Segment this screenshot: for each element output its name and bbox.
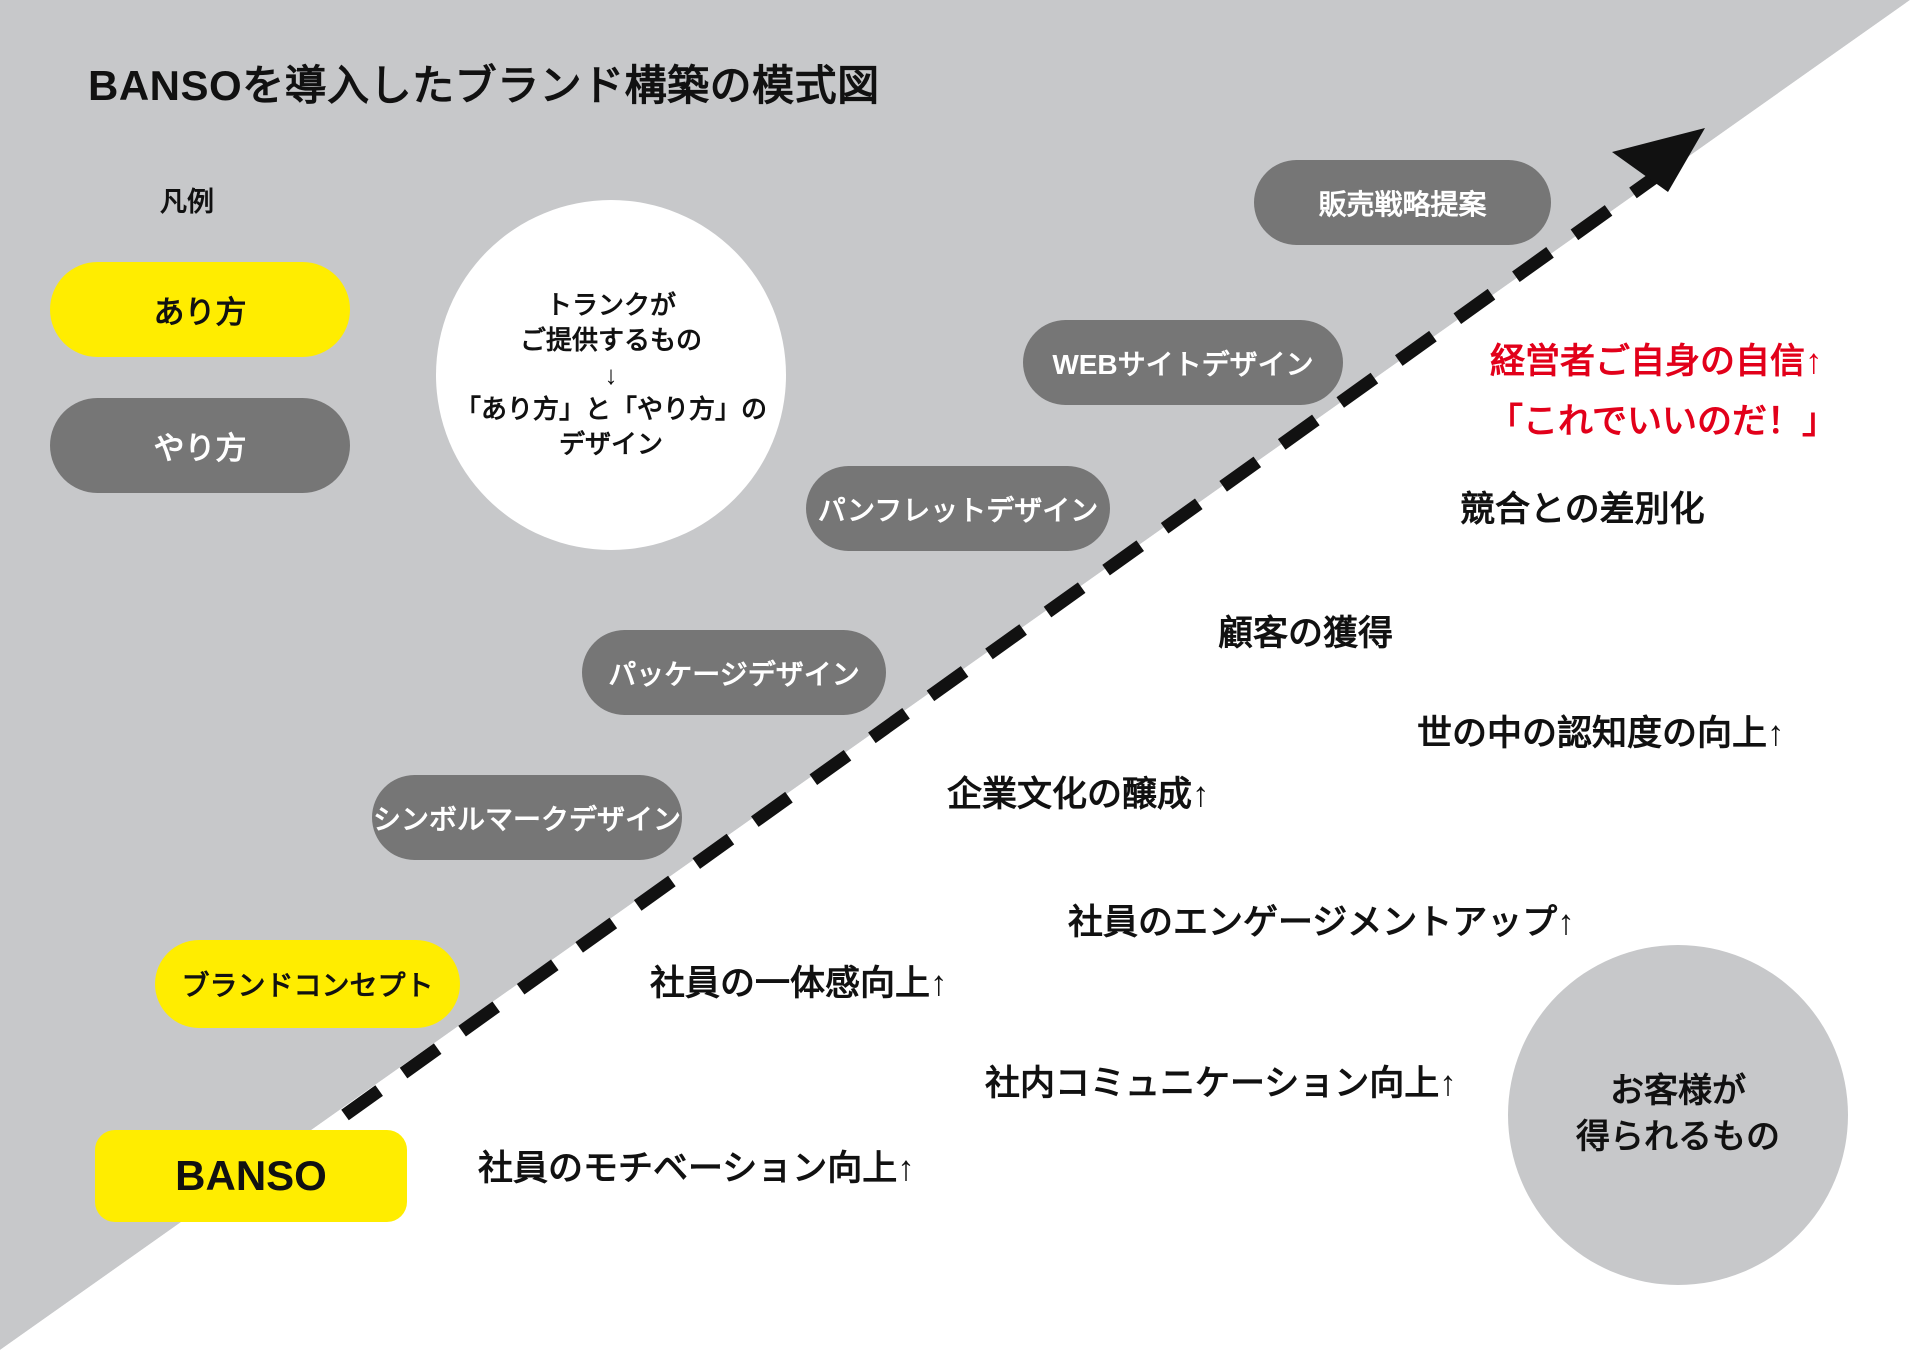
legend-item-yarikata: やり方 bbox=[50, 398, 350, 493]
deliverable-web-design: WEBサイトデザイン bbox=[1023, 320, 1343, 405]
provider-circle: トランクが ご提供するもの ↓ 「あり方」と「やり方」の デザイン bbox=[436, 200, 786, 550]
customer-circle: お客様が 得られるもの bbox=[1508, 945, 1848, 1285]
provider-line-1: トランクが bbox=[546, 288, 676, 323]
provider-line-5: デザイン bbox=[559, 427, 663, 462]
legend-item-ariikata: あり方 bbox=[50, 262, 350, 357]
benefit-employee-engagement: 社員のエンゲージメントアップ↑ bbox=[1068, 894, 1575, 945]
deliverable-banso: BANSO bbox=[95, 1130, 407, 1222]
highlight-line-2: 「これでいいのだ！」 bbox=[1488, 393, 1837, 444]
benefit-employee-unity: 社員の一体感向上↑ bbox=[650, 955, 948, 1006]
legend-label: 凡例 bbox=[160, 180, 214, 219]
diagram-canvas: BANSOを導入したブランド構築の模式図 凡例 あり方 やり方 トランクが ご提… bbox=[0, 0, 1910, 1350]
deliverable-symbol-mark-design: シンボルマークデザイン bbox=[372, 775, 682, 860]
benefit-corporate-culture: 企業文化の醸成↑ bbox=[947, 766, 1210, 817]
provider-line-3: ↓ bbox=[605, 358, 618, 393]
customer-line-1: お客様が bbox=[1610, 1069, 1746, 1115]
provider-line-4: 「あり方」と「やり方」の bbox=[455, 392, 767, 427]
page-title: BANSOを導入したブランド構築の模式図 bbox=[88, 52, 880, 113]
benefit-internal-communication: 社内コミュニケーション向上↑ bbox=[985, 1055, 1457, 1106]
deliverable-pamphlet-design: パンフレットデザイン bbox=[806, 466, 1110, 551]
deliverable-brand-concept: ブランドコンセプト bbox=[155, 940, 460, 1028]
benefit-public-awareness: 世の中の認知度の向上↑ bbox=[1417, 705, 1785, 756]
benefit-employee-motivation: 社員のモチベーション向上↑ bbox=[478, 1140, 915, 1191]
deliverable-sales-strategy: 販売戦略提案 bbox=[1254, 160, 1551, 245]
highlight-line-1: 経営者ご自身の自信↑ bbox=[1490, 333, 1823, 384]
benefit-customer-acquisition: 顧客の獲得 bbox=[1218, 605, 1393, 656]
benefit-differentiation: 競合との差別化 bbox=[1460, 481, 1705, 532]
provider-line-2: ご提供するもの bbox=[520, 323, 702, 358]
deliverable-package-design: パッケージデザイン bbox=[582, 630, 886, 715]
customer-line-2: 得られるもの bbox=[1576, 1115, 1780, 1161]
